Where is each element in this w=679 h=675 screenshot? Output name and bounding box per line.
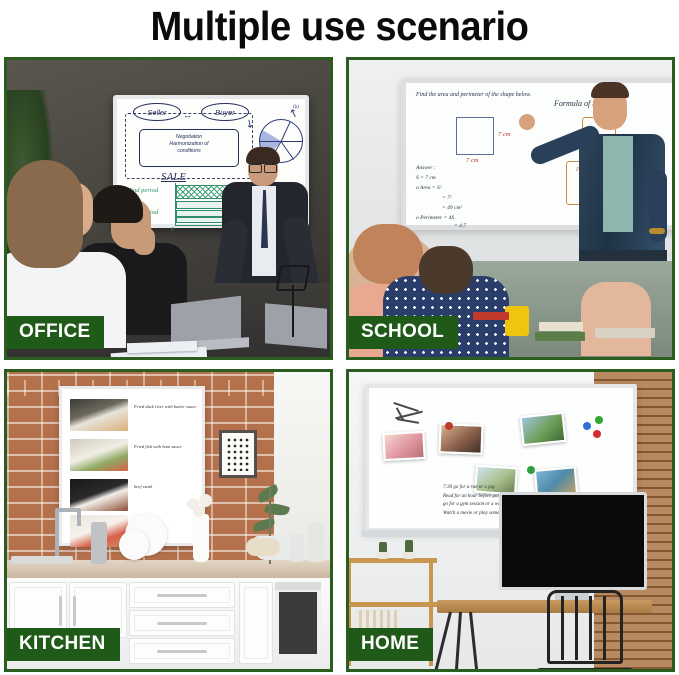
office-mic-stand bbox=[292, 285, 294, 337]
school-book-cream bbox=[539, 322, 583, 331]
office-pie-line-1 bbox=[281, 141, 303, 142]
home-magnet-green-1 bbox=[527, 466, 535, 474]
kitchen-utensils bbox=[91, 522, 107, 564]
school-work-6: = 4.7 bbox=[454, 223, 466, 229]
home-magnet-red-2 bbox=[593, 430, 601, 438]
kitchen-jar-2 bbox=[290, 534, 304, 562]
attendee-male-hand bbox=[133, 227, 155, 255]
glasses-icon bbox=[249, 163, 277, 169]
chair-seat bbox=[533, 668, 637, 669]
teacher-tshirt bbox=[603, 136, 633, 232]
paper-airplane-icon bbox=[393, 404, 427, 426]
office-pie-line-5 bbox=[259, 141, 281, 142]
menu-photo-2 bbox=[70, 439, 128, 471]
office-pie-label-b: (b) bbox=[293, 105, 299, 110]
panel-home[interactable]: 7:30 go for a run or a jog Read for an h… bbox=[346, 369, 675, 672]
attendee-female-hair bbox=[7, 160, 83, 268]
office-laptop2-screen bbox=[265, 303, 327, 348]
home-scene: 7:30 go for a run or a jog Read for an h… bbox=[349, 372, 672, 669]
kitchen-oven[interactable] bbox=[275, 588, 321, 658]
school-work-1: S = 7 cm bbox=[416, 175, 436, 181]
cabinet-handle-2[interactable] bbox=[73, 596, 76, 626]
menu-photo-3 bbox=[70, 479, 128, 511]
school-work-2: o Area = S² bbox=[416, 185, 441, 191]
kitchen-sink bbox=[11, 556, 73, 564]
panel-school[interactable]: Find the area and perimeter of the shape… bbox=[346, 57, 675, 360]
drawer-handle-3[interactable] bbox=[157, 650, 207, 653]
home-photo-1 bbox=[382, 431, 425, 461]
scenario-grid: Seller Buyer ↔ NegotiationHarmonization … bbox=[4, 57, 675, 671]
chair-spindle-4 bbox=[603, 596, 606, 660]
school-prompt: Find the area and perimeter of the shape… bbox=[416, 91, 544, 100]
panel-tag-kitchen: KITCHEN bbox=[4, 628, 120, 661]
cabinet-door-3[interactable] bbox=[239, 582, 273, 664]
presenter-hair bbox=[246, 147, 280, 164]
home-chair[interactable] bbox=[527, 590, 637, 669]
chair-backrest bbox=[547, 590, 623, 664]
cabinet-handle-1[interactable] bbox=[59, 596, 62, 626]
home-magnet-blue bbox=[583, 422, 591, 430]
shelf-plank-top bbox=[349, 558, 437, 563]
school-book-red bbox=[473, 312, 509, 320]
school-work-0: Answer : bbox=[416, 165, 436, 171]
teacher-pointing-hand bbox=[519, 114, 535, 130]
kitchen-scene: Fried duck liver with butter sauce Fried… bbox=[7, 372, 330, 669]
kitchen-faucet[interactable] bbox=[55, 510, 59, 562]
home-photo-3 bbox=[520, 412, 567, 446]
menu-row-3: beef steak bbox=[70, 479, 202, 511]
teacher-hair bbox=[591, 82, 629, 98]
school-book-green bbox=[535, 332, 585, 341]
drawer-handle-1[interactable] bbox=[157, 594, 207, 597]
school-work-5: o Perimeter = 4S bbox=[416, 215, 454, 221]
office-node-buyer: Buyer bbox=[201, 103, 249, 121]
menu-text-3: beef steak bbox=[134, 484, 152, 490]
menu-text-1: Fried duck liver with butter sauce bbox=[134, 404, 196, 410]
school-pencil-cup bbox=[505, 306, 529, 336]
school-dim-horizontal: 7 cm bbox=[466, 157, 478, 164]
chair-spindle-2 bbox=[575, 596, 578, 660]
home-plant-1 bbox=[379, 542, 387, 552]
office-scene: Seller Buyer ↔ NegotiationHarmonization … bbox=[7, 60, 330, 357]
school-work-3: = 7² bbox=[442, 195, 452, 201]
menu-row-2: Fried fish with ham sauce bbox=[70, 439, 202, 471]
plane-line-3 bbox=[397, 418, 419, 424]
school-student-1-hair bbox=[353, 224, 423, 284]
panel-kitchen[interactable]: Fried duck liver with butter sauce Fried… bbox=[4, 369, 333, 672]
home-magnet-red-1 bbox=[445, 422, 453, 430]
home-monitor[interactable] bbox=[499, 492, 647, 590]
office-arrow-between-nodes: ↔ bbox=[183, 110, 192, 120]
panel-tag-school: SCHOOL bbox=[346, 316, 458, 349]
home-magnet-green-2 bbox=[595, 416, 603, 424]
oven-control-panel[interactable] bbox=[275, 582, 321, 590]
kitchen-vase bbox=[193, 514, 209, 562]
kitchen-jar-1 bbox=[308, 522, 324, 562]
microphone-icon bbox=[276, 265, 311, 291]
kitchen-plate-small bbox=[119, 530, 149, 560]
panel-office[interactable]: Seller Buyer ↔ NegotiationHarmonization … bbox=[4, 57, 333, 360]
chair-spindle-1 bbox=[561, 596, 564, 660]
office-node-seller: Seller bbox=[133, 103, 181, 121]
school-scene: Find the area and perimeter of the shape… bbox=[349, 60, 672, 357]
office-attendee-female bbox=[7, 160, 125, 335]
kitchen-flower-3 bbox=[193, 506, 204, 517]
school-square-shape bbox=[456, 117, 494, 155]
menu-text-2: Fried fish with ham sauce bbox=[134, 444, 182, 450]
shelf-plank-mid bbox=[349, 602, 437, 607]
kitchen-flower-2 bbox=[199, 494, 212, 507]
drawer-handle-2[interactable] bbox=[157, 622, 207, 625]
school-dim-vertical: 7 cm bbox=[498, 131, 510, 138]
school-book-stack bbox=[595, 328, 655, 338]
chair-spindle-3 bbox=[589, 596, 592, 660]
panel-tag-home: HOME bbox=[346, 628, 433, 661]
kitchen-wall-art bbox=[219, 430, 257, 478]
panel-tag-office: OFFICE bbox=[4, 316, 104, 349]
home-plant-2 bbox=[405, 540, 413, 552]
school-student-2-head bbox=[419, 246, 473, 294]
kitchen-bread bbox=[246, 538, 280, 556]
school-student-3 bbox=[581, 282, 651, 356]
school-work-4: = 49 cm² bbox=[442, 205, 462, 211]
page-title: Multiple use scenario bbox=[24, 0, 655, 55]
teacher-watch bbox=[649, 228, 665, 234]
wall-art-pattern bbox=[226, 437, 250, 471]
menu-row-1: Fried duck liver with butter sauce bbox=[70, 399, 202, 431]
menu-photo-1 bbox=[70, 399, 128, 431]
office-sale-label: SALE bbox=[161, 171, 186, 183]
